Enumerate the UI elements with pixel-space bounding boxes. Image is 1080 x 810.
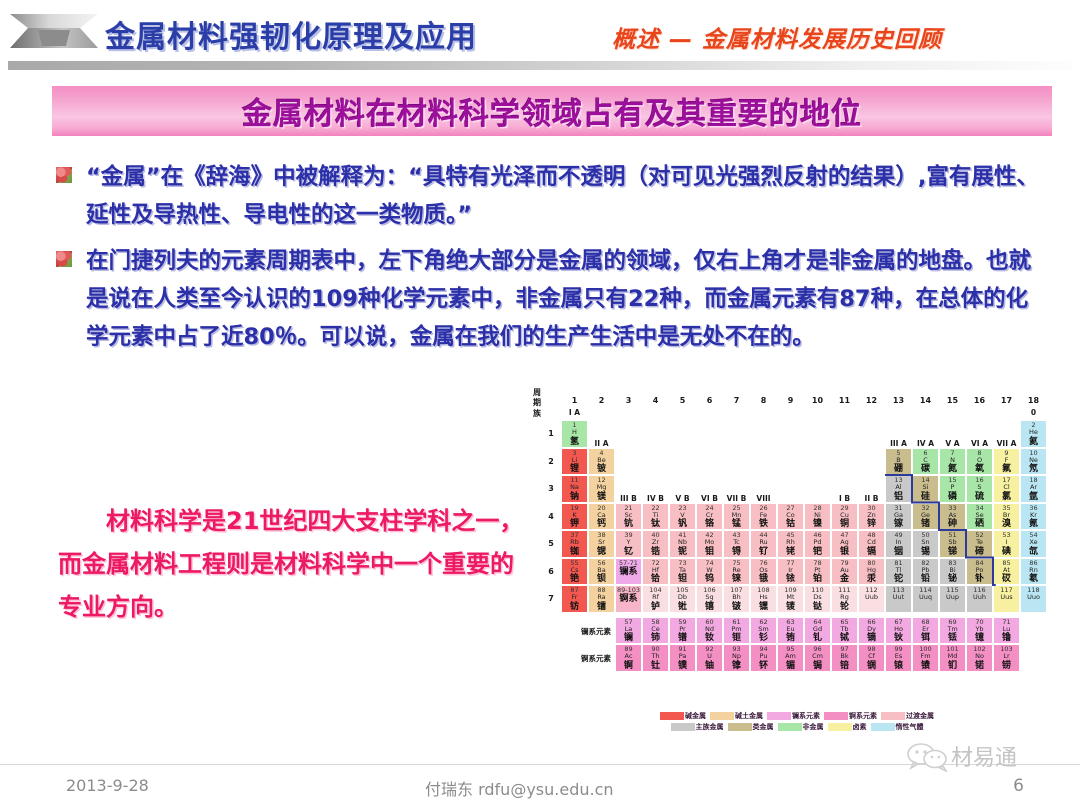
element-symbol: V	[670, 512, 695, 520]
legend-label: 锕系元素	[849, 711, 877, 721]
slide-title-banner: 金属材料在材料科学领域占有及其重要的地位	[52, 86, 1052, 136]
element-symbol: Sn	[913, 539, 938, 547]
lanthanide-element-cell[interactable]: 60Nd钕	[696, 617, 723, 645]
periodic-element-cell[interactable]: 39Y钇	[615, 530, 642, 558]
periodic-element-cell[interactable]: 111Rg𬬭	[831, 585, 858, 613]
element-symbol: Uuo	[1021, 594, 1046, 602]
periodic-element-cell[interactable]: 79Au金	[831, 558, 858, 586]
periodic-column-number: 9	[777, 396, 804, 405]
element-chinese-name: 钠	[562, 492, 587, 502]
element-symbol: Ru	[751, 539, 776, 547]
element-symbol: Es	[886, 653, 911, 661]
periodic-element-cell[interactable]: 55Cs铯	[561, 558, 588, 586]
lanthanide-element-cell[interactable]: 61Pm钷	[723, 617, 750, 645]
legend-label: 碱金属	[685, 711, 706, 721]
element-chinese-name: 砷	[940, 519, 965, 529]
element-symbol: Cd	[859, 539, 884, 547]
header-subtitle: 概述 — 金属材料发展历史回顾	[612, 20, 942, 54]
element-chinese-name: 铝	[886, 492, 911, 502]
legend-color-swatch	[671, 723, 695, 731]
periodic-column-number: 4	[642, 396, 669, 405]
periodic-element-cell[interactable]: 89-​103锕系	[615, 585, 642, 613]
element-symbol: Sg	[697, 594, 722, 602]
periodic-element-cell[interactable]: 84Po钋	[966, 558, 993, 586]
actinide-element-cell[interactable]: 94Pu钚	[750, 644, 777, 672]
periodic-element-cell[interactable]: 33As砷	[939, 503, 966, 531]
lanthanide-element-cell[interactable]: 57La镧	[615, 617, 642, 645]
lanthanide-element-cell[interactable]: 70Yb镱	[966, 617, 993, 645]
actinide-element-cell[interactable]: 90Th钍	[642, 644, 669, 672]
actinide-element-cell[interactable]: 102No锘	[966, 644, 993, 672]
element-chinese-name: 锕系	[616, 594, 641, 604]
periodic-element-cell[interactable]: 34Se硒	[966, 503, 993, 531]
element-chinese-name: 铟	[886, 547, 911, 557]
periodic-row-number: 6	[545, 567, 557, 576]
element-chinese-name: 铒	[913, 633, 938, 643]
element-symbol: He	[1021, 429, 1046, 437]
element-chinese-name: 氢	[562, 437, 587, 447]
periodic-element-cell[interactable]: 38Sr锶	[588, 530, 615, 558]
element-symbol: Co	[778, 512, 803, 520]
element-chinese-name: 𬭛	[724, 602, 749, 612]
element-symbol: Mn	[724, 512, 749, 520]
periodic-element-cell[interactable]: 26Fe铁	[750, 503, 777, 531]
periodic-element-cell[interactable]: 118Uuo	[1020, 585, 1047, 613]
element-chinese-name: 镭	[589, 602, 614, 612]
actinide-element-cell[interactable]: 97Bk锫	[831, 644, 858, 672]
periodic-element-cell[interactable]: 56Ba钡	[588, 558, 615, 586]
lanthanide-element-cell[interactable]: 69Tm铥	[939, 617, 966, 645]
periodic-group-label: IV B	[642, 494, 669, 503]
legend-label: 镧系元素	[792, 711, 820, 721]
actinide-element-cell[interactable]: 96Cm锔	[804, 644, 831, 672]
periodic-group-label: II A	[588, 439, 615, 448]
element-symbol: Kr	[1021, 512, 1046, 520]
element-chinese-name: 锘	[967, 661, 992, 671]
element-symbol: N	[940, 457, 965, 465]
periodic-element-cell[interactable]: 18Ar氩	[1020, 475, 1047, 503]
periodic-element-cell[interactable]: 7N氮	[939, 448, 966, 476]
element-chinese-name: 镁	[589, 492, 614, 502]
legend-label: 碱土金属	[735, 711, 763, 721]
bullet-text: “金属”在《辞海》中被解释为：“具特有光泽而不透明（对可见光强烈反射的结果）,富…	[86, 158, 1046, 234]
element-symbol: At	[994, 567, 1019, 575]
periodic-element-cell[interactable]: 11Na钠	[561, 475, 588, 503]
element-symbol: Rg	[832, 594, 857, 602]
periodic-element-cell[interactable]: 105Db𬭊	[669, 585, 696, 613]
periodic-element-cell[interactable]: 10Ne氖	[1020, 448, 1047, 476]
periodic-row-number: 1	[545, 429, 557, 438]
periodic-element-cell[interactable]: 20Ca钙	[588, 503, 615, 531]
periodic-element-cell[interactable]: 48Cd镉	[858, 530, 885, 558]
periodic-element-cell[interactable]: 54Xe氙	[1020, 530, 1047, 558]
periodic-element-cell[interactable]: 40Zr锆	[642, 530, 669, 558]
lanthanide-element-cell[interactable]: 68Er铒	[912, 617, 939, 645]
periodic-element-cell[interactable]: 117Uus	[993, 585, 1020, 613]
element-chinese-name: 氡	[1021, 574, 1046, 584]
element-chinese-name: 铈	[643, 633, 668, 643]
periodic-element-cell[interactable]: 88Ra镭	[588, 585, 615, 613]
periodic-element-cell[interactable]: 9F氟	[993, 448, 1020, 476]
element-chinese-name: 钫	[562, 602, 587, 612]
periodic-element-cell[interactable]: 52Te碲	[966, 530, 993, 558]
element-symbol: Ta	[670, 567, 695, 575]
slide-header: 金属材料强韧化原理及应用 概述 — 金属材料发展历史回顾	[0, 0, 1080, 70]
element-symbol: Y	[616, 539, 641, 547]
header-title: 金属材料强韧化原理及应用	[105, 12, 477, 56]
element-chinese-name: 铕	[778, 633, 803, 643]
periodic-element-cell[interactable]: 112Uub	[858, 585, 885, 613]
lanthanide-element-cell[interactable]: 67Ho钬	[885, 617, 912, 645]
periodic-element-cell[interactable]: 50Sn锡	[912, 530, 939, 558]
periodic-column-number: 6	[696, 396, 723, 405]
periodic-element-cell[interactable]: 116Uuh	[966, 585, 993, 613]
element-symbol: Cu	[832, 512, 857, 520]
periodic-element-cell[interactable]: 72Hf铪	[642, 558, 669, 586]
periodic-row-number: 7	[545, 594, 557, 603]
periodic-group-label: V B	[669, 494, 696, 503]
element-symbol: Ti	[643, 512, 668, 520]
element-chinese-name: 钛	[643, 519, 668, 529]
element-chinese-name: 溴	[994, 519, 1019, 529]
element-chinese-name: 铷	[562, 547, 587, 557]
periodic-element-cell[interactable]: 2He氦	[1020, 420, 1047, 448]
element-symbol: Lu	[994, 626, 1019, 634]
periodic-element-cell[interactable]: 113Uut	[885, 585, 912, 613]
element-symbol: Ne	[1021, 457, 1046, 465]
legend-color-swatch	[778, 723, 802, 731]
footer-page-number: 6	[1013, 776, 1024, 796]
element-symbol: Ds	[805, 594, 830, 602]
lanthanide-element-cell[interactable]: 66Dy镝	[858, 617, 885, 645]
element-chinese-name: 氟	[994, 464, 1019, 474]
highlight-paragraph: 材料科学是21世纪四大支柱学科之一，而金属材料工程则是材料科学中一个重要的专业方…	[58, 500, 528, 629]
actinide-element-cell[interactable]: 95Am镅	[777, 644, 804, 672]
periodic-element-cell[interactable]: 27Co钴	[777, 503, 804, 531]
element-chinese-name: 锑	[940, 547, 965, 557]
periodic-column-number: 15	[939, 396, 966, 405]
periodic-column-number: 7	[723, 396, 750, 405]
element-chinese-name: 钯	[805, 547, 830, 557]
element-chinese-name: 钚	[751, 661, 776, 671]
element-symbol: As	[940, 512, 965, 520]
element-chinese-name: 铁	[751, 519, 776, 529]
periodic-element-cell[interactable]: 51Sb锑	[939, 530, 966, 558]
periodic-element-cell[interactable]: 21Sc钪	[615, 503, 642, 531]
periodic-element-cell[interactable]: 5B硼	[885, 448, 912, 476]
element-symbol: Mt	[778, 594, 803, 602]
element-chinese-name: 镍	[805, 519, 830, 529]
element-chinese-name: 锡	[913, 547, 938, 557]
periodic-element-cell[interactable]: 43Tc锝	[723, 530, 750, 558]
element-symbol: Ni	[805, 512, 830, 520]
periodic-element-cell[interactable]: 16S硫	[966, 475, 993, 503]
element-symbol: Tm	[940, 626, 965, 634]
period-axis-label: 周期	[533, 388, 547, 408]
lanthanide-element-cell[interactable]: 59Pr镨	[669, 617, 696, 645]
element-chinese-name: 锔	[805, 661, 830, 671]
periodic-element-cell[interactable]: 25Mn锰	[723, 503, 750, 531]
element-symbol: F	[994, 457, 1019, 465]
trapezoid-ribbon-logo	[8, 8, 100, 56]
periodic-element-cell[interactable]: 110Ds𫟼	[804, 585, 831, 613]
element-symbol: In	[886, 539, 911, 547]
periodic-group-label: VII A	[993, 439, 1020, 448]
lanthanide-element-cell[interactable]: 58Ce铈	[642, 617, 669, 645]
periodic-element-cell[interactable]: 85At砹	[993, 558, 1020, 586]
legend-row: 碱金属碱土金属镧系元素锕系元素过渡金属	[617, 710, 977, 721]
periodic-element-cell[interactable]: 41Nb铌	[669, 530, 696, 558]
periodic-element-cell[interactable]: 13Al铝	[885, 475, 912, 503]
element-symbol: Md	[940, 653, 965, 661]
periodic-table-legend: 碱金属碱土金属镧系元素锕系元素过渡金属 主族金属类金属非金属卤素惰性气體	[617, 710, 977, 732]
element-chinese-name: 铪	[643, 574, 668, 584]
element-symbol: Re	[724, 567, 749, 575]
element-symbol: S	[967, 484, 992, 492]
element-symbol: Ra	[589, 594, 614, 602]
periodic-element-cell[interactable]: 53I碘	[993, 530, 1020, 558]
periodic-element-cell[interactable]: 30Zn锌	[858, 503, 885, 531]
element-symbol: Pb	[913, 567, 938, 575]
actinide-element-cell[interactable]: 101Md钔	[939, 644, 966, 672]
element-chinese-name: 碘	[994, 547, 1019, 557]
element-chinese-name: 钋	[967, 574, 992, 584]
element-chinese-name: 钡	[589, 574, 614, 584]
element-chinese-name: 铥	[940, 633, 965, 643]
periodic-element-cell[interactable]: 32Ge锗	[912, 503, 939, 531]
element-chinese-name: 氦	[1021, 437, 1046, 447]
periodic-column-number: 12	[858, 396, 885, 405]
element-symbol: Ir	[778, 567, 803, 575]
periodic-row-number: 2	[545, 457, 557, 466]
element-symbol: Uuq	[913, 594, 938, 602]
element-chinese-name: 硼	[886, 464, 911, 474]
periodic-element-cell[interactable]: 106Sg𬭳	[696, 585, 723, 613]
element-symbol: Au	[832, 567, 857, 575]
element-chinese-name: 镎	[724, 661, 749, 671]
element-chinese-name: 钆	[805, 633, 830, 643]
periodic-element-cell[interactable]: 29Cu铜	[831, 503, 858, 531]
element-chinese-name: 锗	[913, 519, 938, 529]
element-symbol: Ge	[913, 512, 938, 520]
element-symbol: Yb	[967, 626, 992, 634]
periodic-element-cell[interactable]: 80Hg汞	[858, 558, 885, 586]
periodic-element-cell[interactable]: 37Rb铷	[561, 530, 588, 558]
element-symbol: Sb	[940, 539, 965, 547]
periodic-element-cell[interactable]: 57-​71镧系	[615, 558, 642, 586]
element-symbol: Pa	[670, 653, 695, 661]
periodic-element-cell[interactable]: 4Be铍	[588, 448, 615, 476]
element-chinese-name: 𫟼	[805, 602, 830, 612]
element-symbol: Sr	[589, 539, 614, 547]
element-symbol: Db	[670, 594, 695, 602]
periodic-element-cell[interactable]: 17Cl氯	[993, 475, 1020, 503]
element-symbol: Lr	[994, 653, 1019, 661]
actinide-element-cell[interactable]: 89Ac锕	[615, 644, 642, 672]
periodic-table-figure: 周期族1234567891011121314151617181234567I A…	[519, 388, 1053, 738]
element-chinese-name: 铯	[562, 574, 587, 584]
element-chinese-name: 银	[832, 547, 857, 557]
periodic-column-number: 16	[966, 396, 993, 405]
element-symbol: Eu	[778, 626, 803, 634]
element-chinese-name: 铅	[913, 574, 938, 584]
element-symbol: Cf	[859, 653, 884, 661]
periodic-column-number: 11	[831, 396, 858, 405]
periodic-column-number: 1	[561, 396, 588, 405]
element-chinese-name: 𬬭	[832, 602, 857, 612]
element-symbol: Pu	[751, 653, 776, 661]
periodic-element-cell[interactable]: 24Cr铬	[696, 503, 723, 531]
actinide-element-cell[interactable]: 99Es锿	[885, 644, 912, 672]
periodic-element-cell[interactable]: 81Tl铊	[885, 558, 912, 586]
element-symbol: Si	[913, 484, 938, 492]
periodic-element-cell[interactable]: 36Kr氪	[1020, 503, 1047, 531]
periodic-element-cell[interactable]: 82Pb铅	[912, 558, 939, 586]
actinide-element-cell[interactable]: 93Np镎	[723, 644, 750, 672]
element-chinese-name: 钇	[616, 547, 641, 557]
periodic-column-number: 14	[912, 396, 939, 405]
periodic-column-number: 8	[750, 396, 777, 405]
legend-color-swatch	[828, 723, 852, 731]
periodic-element-cell[interactable]: 1H氢	[561, 420, 588, 448]
element-symbol: Uus	[994, 594, 1019, 602]
periodic-element-cell[interactable]: 104Rf𬬻	[642, 585, 669, 613]
periodic-element-cell[interactable]: 109Mt鿏	[777, 585, 804, 613]
element-series-label: 锕系元素	[555, 653, 611, 664]
element-chinese-name: 𬭊	[670, 602, 695, 612]
periodic-element-cell[interactable]: 45Rh铑	[777, 530, 804, 558]
periodic-element-cell[interactable]: 75Re铼	[723, 558, 750, 586]
periodic-element-cell[interactable]: 6C碳	[912, 448, 939, 476]
actinide-element-cell[interactable]: 100Fm镄	[912, 644, 939, 672]
element-chinese-name: 碳	[913, 464, 938, 474]
element-symbol: Sm	[751, 626, 776, 634]
legend-label: 非金属	[803, 722, 824, 732]
periodic-element-cell[interactable]: 19K钾	[561, 503, 588, 531]
element-symbol: Ca	[589, 512, 614, 520]
periodic-element-cell[interactable]: 3Li锂	[561, 448, 588, 476]
periodic-element-cell[interactable]: 31Ga镓	[885, 503, 912, 531]
element-symbol: Se	[967, 512, 992, 520]
element-symbol: H	[562, 429, 587, 437]
periodic-element-cell[interactable]: 14Si硅	[912, 475, 939, 503]
periodic-element-cell[interactable]: 108Hs𬭶	[750, 585, 777, 613]
element-symbol: Ce	[643, 626, 668, 634]
periodic-group-label: III A	[885, 439, 912, 448]
element-chinese-name: 氪	[1021, 519, 1046, 529]
periodic-element-cell[interactable]: 87Fr钫	[561, 585, 588, 613]
element-symbol: Nd	[697, 626, 722, 634]
periodic-element-cell[interactable]: 73Ta钽	[669, 558, 696, 586]
element-chinese-name: 硒	[967, 519, 992, 529]
element-chinese-name: 𬭶	[751, 602, 776, 612]
element-symbol: Hs	[751, 594, 776, 602]
actinide-element-cell[interactable]: 92U铀	[696, 644, 723, 672]
element-symbol: Ag	[832, 539, 857, 547]
periodic-element-cell[interactable]: 115Uup	[939, 585, 966, 613]
element-symbol: Bk	[832, 653, 857, 661]
element-chinese-name: 𬬻	[643, 602, 668, 612]
lanthanide-element-cell[interactable]: 65Tb铽	[831, 617, 858, 645]
lanthanide-element-cell[interactable]: 62Sm钐	[750, 617, 777, 645]
lanthanide-element-cell[interactable]: 63Eu铕	[777, 617, 804, 645]
periodic-element-cell[interactable]: 47Ag银	[831, 530, 858, 558]
element-chinese-name: 钐	[751, 633, 776, 643]
element-chinese-name: 镝	[859, 633, 884, 643]
periodic-element-cell[interactable]: 86Rn氡	[1020, 558, 1047, 586]
periodic-element-cell[interactable]: 42Mo钼	[696, 530, 723, 558]
periodic-element-cell[interactable]: 28Ni镍	[804, 503, 831, 531]
element-symbol: Fe	[751, 512, 776, 520]
element-chinese-name: 锰	[724, 519, 749, 529]
periodic-element-cell[interactable]: 44Ru钌	[750, 530, 777, 558]
element-chinese-name: 镨	[670, 633, 695, 643]
legend-color-swatch	[728, 723, 752, 731]
periodic-element-cell[interactable]: 49In铟	[885, 530, 912, 558]
actinide-element-cell[interactable]: 98Cf锎	[858, 644, 885, 672]
element-chinese-name: 钙	[589, 519, 614, 529]
legend-color-swatch	[767, 712, 791, 720]
element-chinese-name: 锌	[859, 519, 884, 529]
legend-entry: 碱土金属	[710, 711, 763, 721]
element-chinese-name: 钒	[670, 519, 695, 529]
periodic-element-cell[interactable]: 12Mg镁	[588, 475, 615, 503]
element-symbol: Np	[724, 653, 749, 661]
element-chinese-name: 钔	[940, 661, 965, 671]
periodic-element-cell[interactable]: 114Uuq	[912, 585, 939, 613]
element-chinese-name: 锂	[562, 464, 587, 474]
periodic-element-cell[interactable]: 22Ti钛	[642, 503, 669, 531]
periodic-element-cell[interactable]: 78Pt铂	[804, 558, 831, 586]
element-chinese-name: 钕	[697, 633, 722, 643]
element-chinese-name: 锶	[589, 547, 614, 557]
periodic-element-cell[interactable]: 77Ir铱	[777, 558, 804, 586]
periodic-element-cell[interactable]: 35Br溴	[993, 503, 1020, 531]
lanthanide-element-cell[interactable]: 64Gd钆	[804, 617, 831, 645]
element-series-label: 镧系元素	[555, 626, 611, 637]
periodic-element-cell[interactable]: 8O氧	[966, 448, 993, 476]
periodic-element-cell[interactable]: 83Bi铋	[939, 558, 966, 586]
element-symbol: C	[913, 457, 938, 465]
element-chinese-name: 铋	[940, 574, 965, 584]
legend-color-swatch	[710, 712, 734, 720]
periodic-element-cell[interactable]: 23V钒	[669, 503, 696, 531]
element-symbol: Hg	[859, 567, 884, 575]
element-chinese-name: 镅	[778, 661, 803, 671]
element-chinese-name: 铱	[778, 574, 803, 584]
element-chinese-name: 钴	[778, 519, 803, 529]
lanthanide-element-cell[interactable]: 71Lu镥	[993, 617, 1020, 645]
periodic-element-cell[interactable]: 107Bh𬭛	[723, 585, 750, 613]
element-symbol: Uup	[940, 594, 965, 602]
periodic-element-cell[interactable]: 46Pd钯	[804, 530, 831, 558]
legend-color-swatch	[871, 723, 895, 731]
element-chinese-name: 镉	[859, 547, 884, 557]
periodic-element-cell[interactable]: 74W钨	[696, 558, 723, 586]
periodic-element-cell[interactable]: 76Os锇	[750, 558, 777, 586]
element-chinese-name: 钪	[616, 519, 641, 529]
element-symbol: Be	[589, 457, 614, 465]
actinide-element-cell[interactable]: 103Lr铹	[993, 644, 1020, 672]
actinide-element-cell[interactable]: 91Pa镤	[669, 644, 696, 672]
element-symbol: Er	[913, 626, 938, 634]
element-chinese-name: 镓	[886, 519, 911, 529]
element-chinese-name: 氯	[994, 492, 1019, 502]
legend-entry: 类金属	[728, 722, 774, 732]
periodic-column-number: 13	[885, 396, 912, 405]
periodic-element-cell[interactable]: 15P磷	[939, 475, 966, 503]
element-symbol: Os	[751, 567, 776, 575]
